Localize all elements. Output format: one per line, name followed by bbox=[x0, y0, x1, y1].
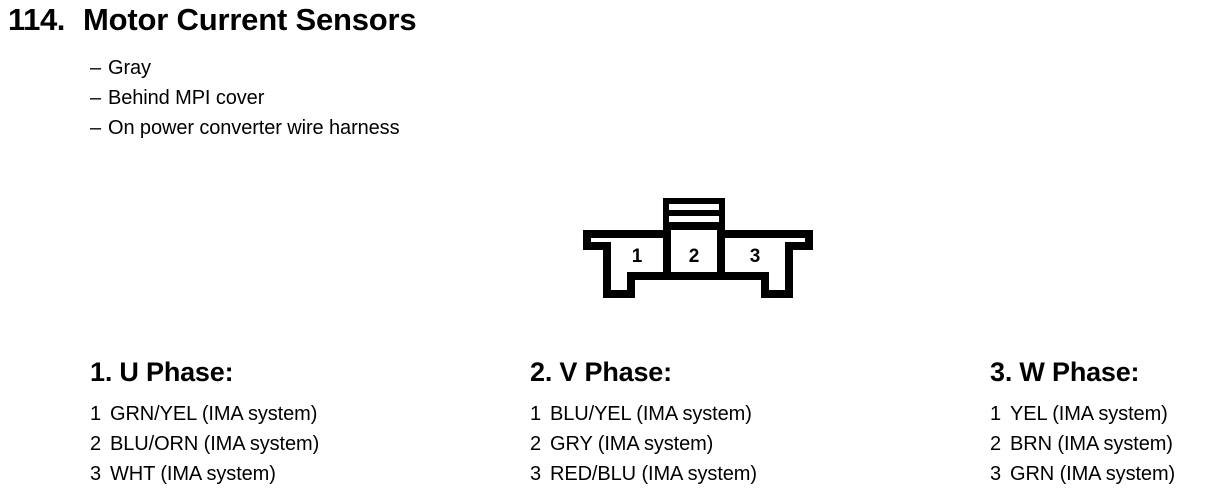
pin-wire-label: WHT (IMA system) bbox=[110, 459, 276, 489]
pin-wire-label: BLU/ORN (IMA system) bbox=[110, 429, 319, 459]
shell-top-right bbox=[723, 230, 805, 238]
dash-icon: – bbox=[90, 113, 108, 143]
list-item-label: Gray bbox=[108, 57, 151, 79]
pin-assignment-row: 1 YEL (IMA system) bbox=[990, 399, 1175, 429]
pin-assignment-row: 1 GRN/YEL (IMA system) bbox=[90, 399, 319, 429]
pin-wire-label: GRY (IMA system) bbox=[550, 429, 713, 459]
phase-column-w: 3. W Phase: 1 YEL (IMA system) 2 BRN (IM… bbox=[990, 355, 1175, 489]
list-item-label: On power converter wire harness bbox=[108, 117, 399, 139]
connector-diagram: 1 2 3 bbox=[578, 196, 818, 306]
pin-wire-label: GRN/YEL (IMA system) bbox=[110, 399, 317, 429]
pin-number: 1 bbox=[90, 399, 110, 429]
phase-column-heading: 1. U Phase: bbox=[90, 355, 319, 389]
pin-wire-label: RED/BLU (IMA system) bbox=[550, 459, 757, 489]
pin-number: 3 bbox=[90, 459, 110, 489]
pin-wire-label: YEL (IMA system) bbox=[1010, 399, 1168, 429]
list-item-label: Behind MPI cover bbox=[108, 87, 264, 109]
connector-outline-svg: 1 2 3 bbox=[578, 196, 818, 306]
phase-column-heading: 3. W Phase: bbox=[990, 355, 1175, 389]
pin-number: 3 bbox=[530, 459, 550, 489]
pin-wire-label: GRN (IMA system) bbox=[1010, 459, 1175, 489]
pin-assignment-row: 3 WHT (IMA system) bbox=[90, 459, 319, 489]
shell-right-wall bbox=[785, 242, 793, 298]
pin-number-2: 2 bbox=[689, 246, 700, 267]
pin-divider-2-3 bbox=[717, 230, 725, 280]
pin-wire-label: BRN (IMA system) bbox=[1010, 429, 1173, 459]
pin-number: 2 bbox=[990, 429, 1010, 459]
latch-slot-lower bbox=[669, 216, 719, 222]
dash-icon: – bbox=[90, 83, 108, 113]
shell-left-wall bbox=[603, 242, 611, 298]
pin-assignment-row: 3 GRN (IMA system) bbox=[990, 459, 1175, 489]
dash-icon: – bbox=[90, 53, 108, 83]
pin-assignment-row: 2 BRN (IMA system) bbox=[990, 429, 1175, 459]
shell-top-left bbox=[583, 230, 665, 238]
page-number: 114. bbox=[8, 2, 65, 38]
phase-column-u: 1. U Phase: 1 GRN/YEL (IMA system) 2 BLU… bbox=[90, 355, 319, 489]
latch-tab-body bbox=[663, 198, 725, 230]
page-title: 114. Motor Current Sensors bbox=[8, 2, 416, 38]
list-item: –On power converter wire harness bbox=[90, 113, 399, 143]
pin-wire-label: BLU/YEL (IMA system) bbox=[550, 399, 752, 429]
pin-number: 1 bbox=[530, 399, 550, 429]
pin-assignment-row: 2 GRY (IMA system) bbox=[530, 429, 757, 459]
phase-column-v: 2. V Phase: 1 BLU/YEL (IMA system) 2 GRY… bbox=[530, 355, 757, 489]
pin-assignment-row: 3 RED/BLU (IMA system) bbox=[530, 459, 757, 489]
pin-number-3: 3 bbox=[750, 246, 761, 267]
pin-assignment-row: 2 BLU/ORN (IMA system) bbox=[90, 429, 319, 459]
description-bullet-list: –Gray –Behind MPI cover –On power conver… bbox=[90, 53, 399, 143]
shell-bottom-rail bbox=[627, 272, 761, 280]
pin-divider-1-2 bbox=[663, 230, 671, 280]
pin-number-1: 1 bbox=[632, 246, 643, 267]
shell-right-foot-riser bbox=[761, 272, 769, 294]
phase-column-heading: 2. V Phase: bbox=[530, 355, 757, 389]
pin-number: 3 bbox=[990, 459, 1010, 489]
pin-number: 2 bbox=[90, 429, 110, 459]
pin-number: 1 bbox=[990, 399, 1010, 429]
page-title-text: Motor Current Sensors bbox=[83, 2, 416, 38]
pin-assignment-row: 1 BLU/YEL (IMA system) bbox=[530, 399, 757, 429]
pin-number: 2 bbox=[530, 429, 550, 459]
list-item: –Gray bbox=[90, 53, 399, 83]
list-item: –Behind MPI cover bbox=[90, 83, 399, 113]
latch-slot-upper bbox=[669, 204, 719, 210]
